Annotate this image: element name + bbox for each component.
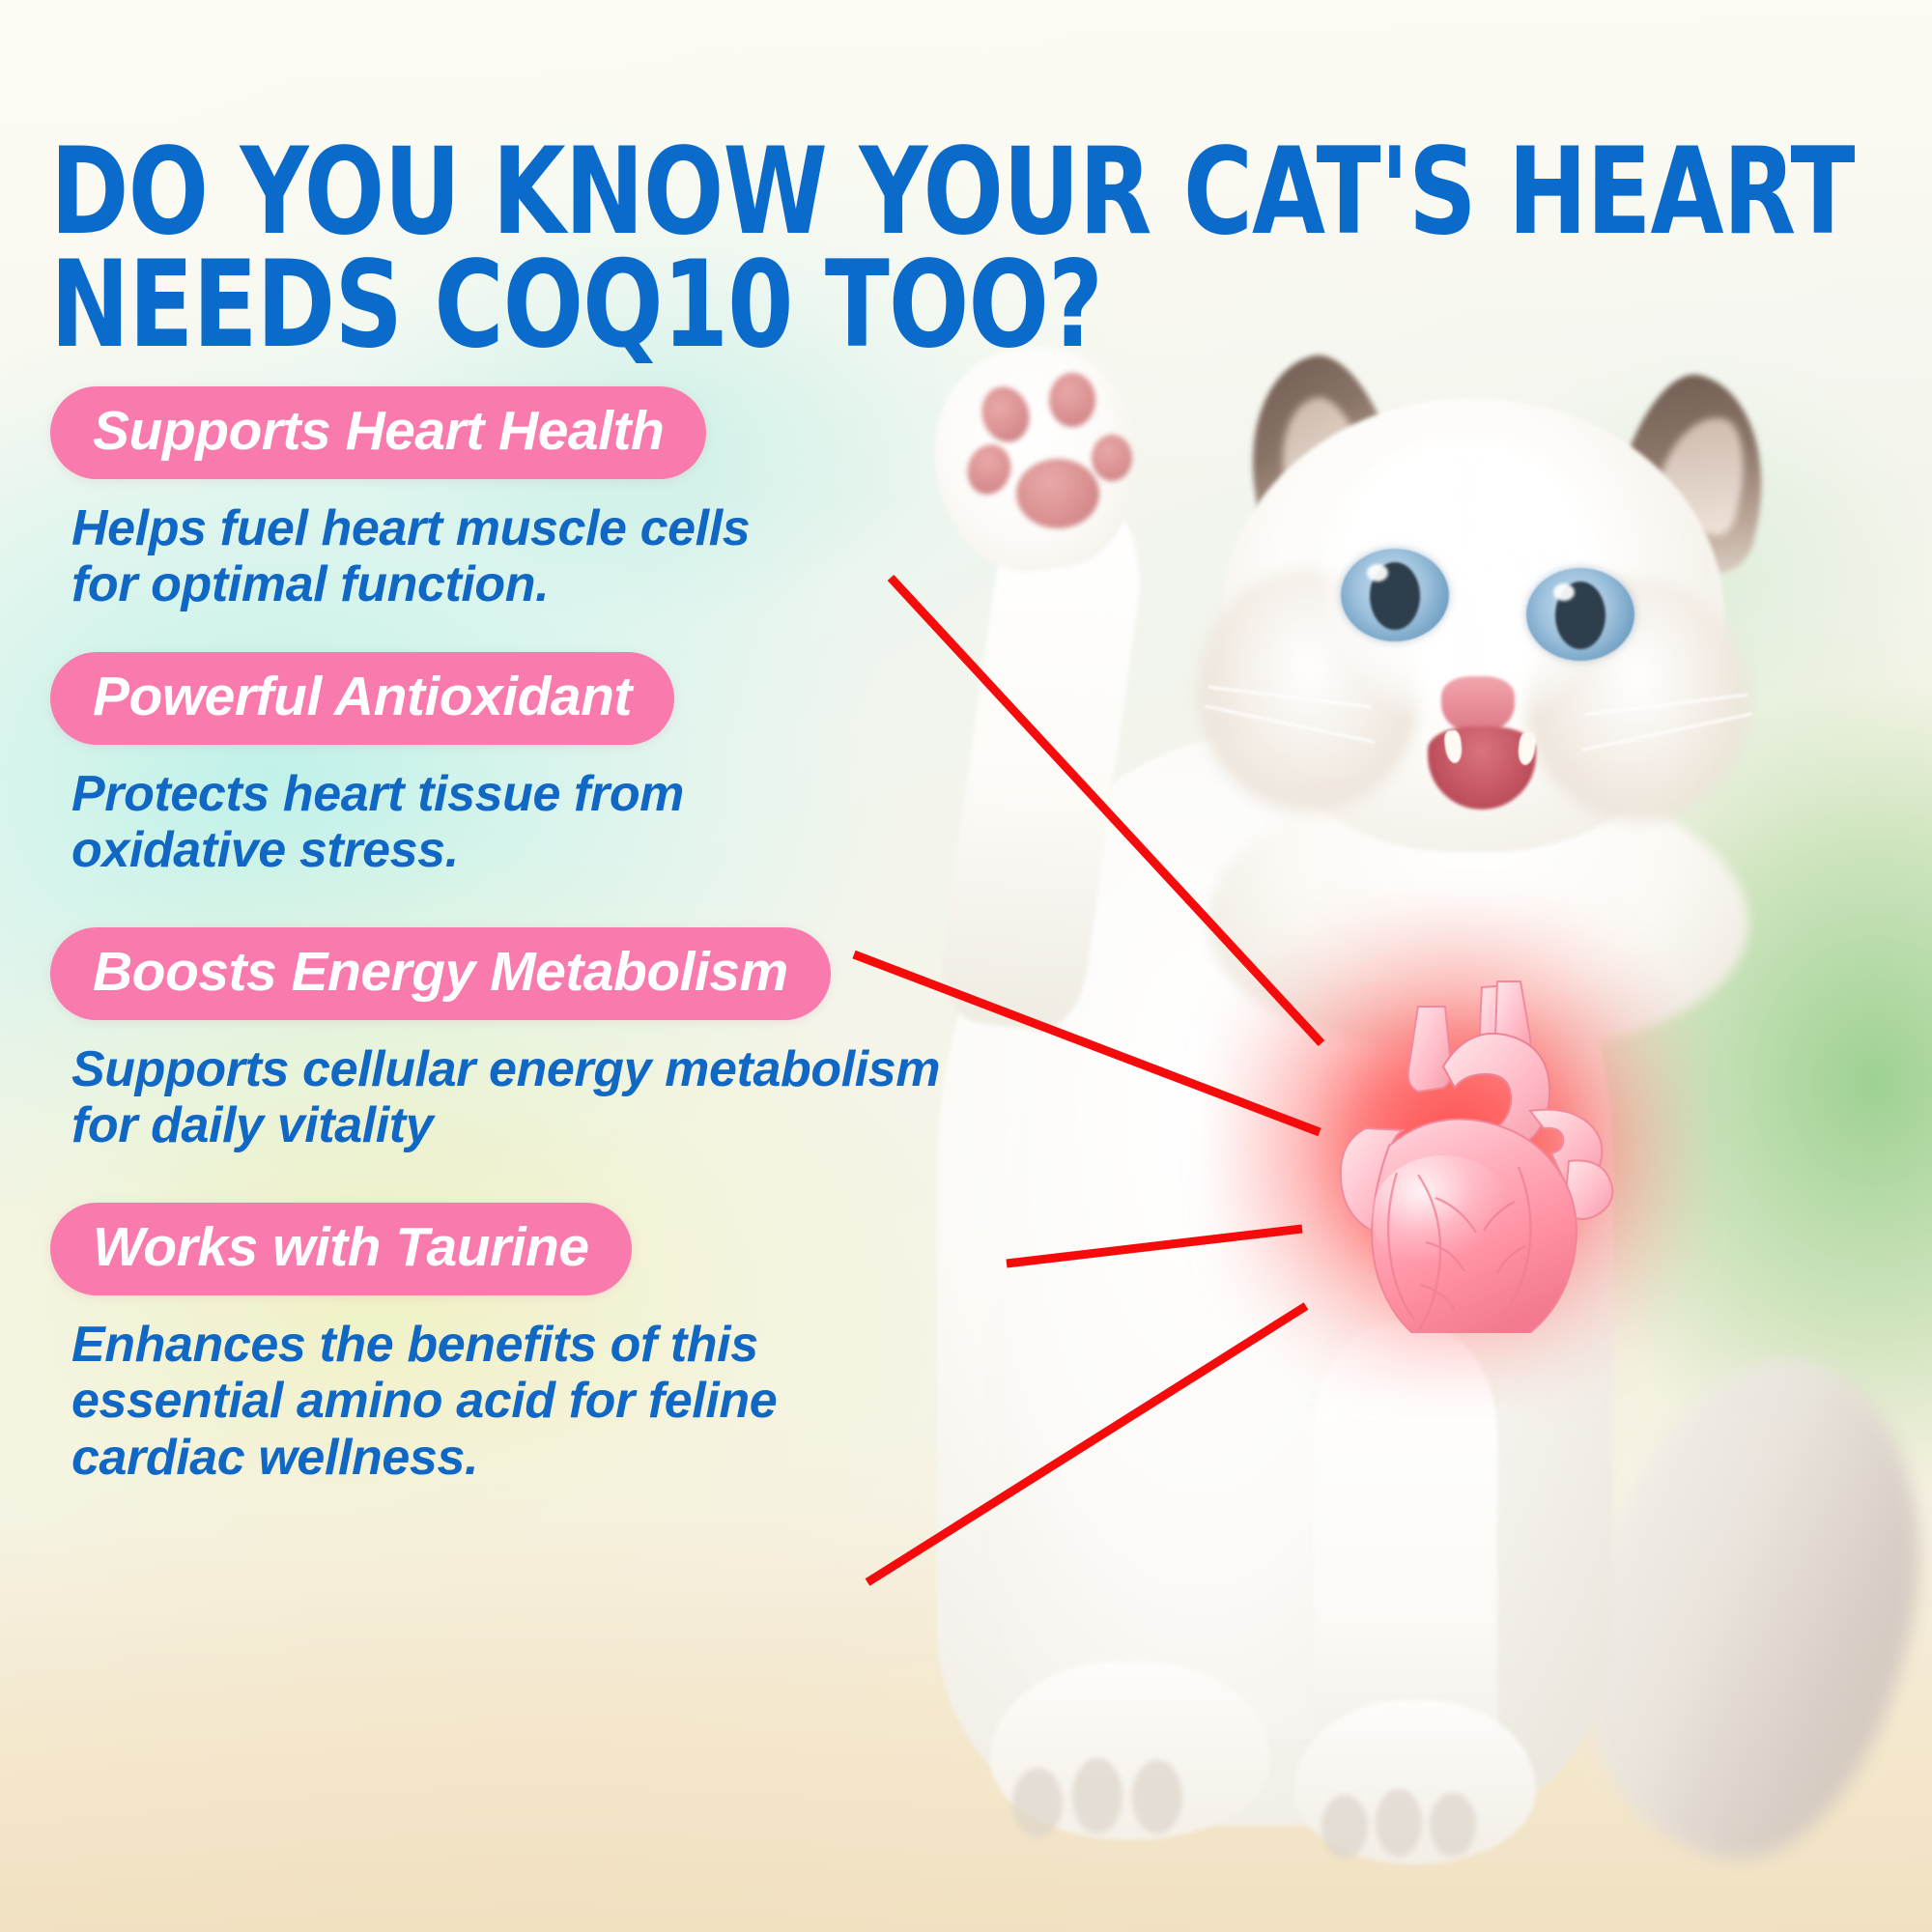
feature-badge-1[interactable]: Supports Heart Health — [50, 386, 706, 479]
feature-badge-4[interactable]: Works with Taurine — [50, 1203, 632, 1295]
connector-line-4 — [867, 1306, 1306, 1582]
feature-block-4: Works with Taurine Enhances the benefits… — [50, 1203, 777, 1486]
feature-description-4: Enhances the benefits of this essential … — [71, 1317, 777, 1486]
feature-block-2: Powerful Antioxidant Protects heart tiss… — [50, 652, 684, 879]
feature-desc-line: oxidative stress. — [71, 822, 684, 878]
feature-badge-3[interactable]: Boosts Energy Metabolism — [50, 927, 831, 1020]
feature-desc-line: cardiac wellness. — [71, 1430, 777, 1486]
feature-desc-line: for optimal function. — [71, 556, 750, 612]
feature-desc-line: Helps fuel heart muscle cells — [71, 500, 750, 556]
feature-description-1: Helps fuel heart muscle cells for optima… — [71, 500, 750, 612]
headline-line-2: NEEDS COQ10 TOO? — [50, 249, 1180, 362]
feature-desc-line: Protects heart tissue from — [71, 766, 684, 822]
feature-description-3: Supports cellular energy metabolism for … — [71, 1041, 940, 1153]
feature-block-1: Supports Heart Health Helps fuel heart m… — [50, 386, 750, 613]
feature-block-3: Boosts Energy Metabolism Supports cellul… — [50, 927, 940, 1154]
page-title: DO YOU KNOW YOUR CAT'S HEART NEEDS COQ10… — [50, 136, 1180, 361]
feature-description-2: Protects heart tissue from oxidative str… — [71, 766, 684, 878]
feature-desc-line: essential amino acid for feline — [71, 1373, 777, 1429]
feature-desc-line: Enhances the benefits of this — [71, 1317, 777, 1373]
infographic-poster: DO YOU KNOW YOUR CAT'S HEART NEEDS COQ10… — [0, 0, 1932, 1932]
connector-line-1 — [891, 578, 1321, 1043]
feature-desc-line: for daily vitality — [71, 1097, 940, 1153]
feature-desc-line: Supports cellular energy metabolism — [71, 1041, 940, 1097]
feature-badge-2[interactable]: Powerful Antioxidant — [50, 652, 674, 745]
connector-line-3 — [1007, 1229, 1302, 1264]
headline-line-1: DO YOU KNOW YOUR CAT'S HEART — [50, 136, 1180, 249]
